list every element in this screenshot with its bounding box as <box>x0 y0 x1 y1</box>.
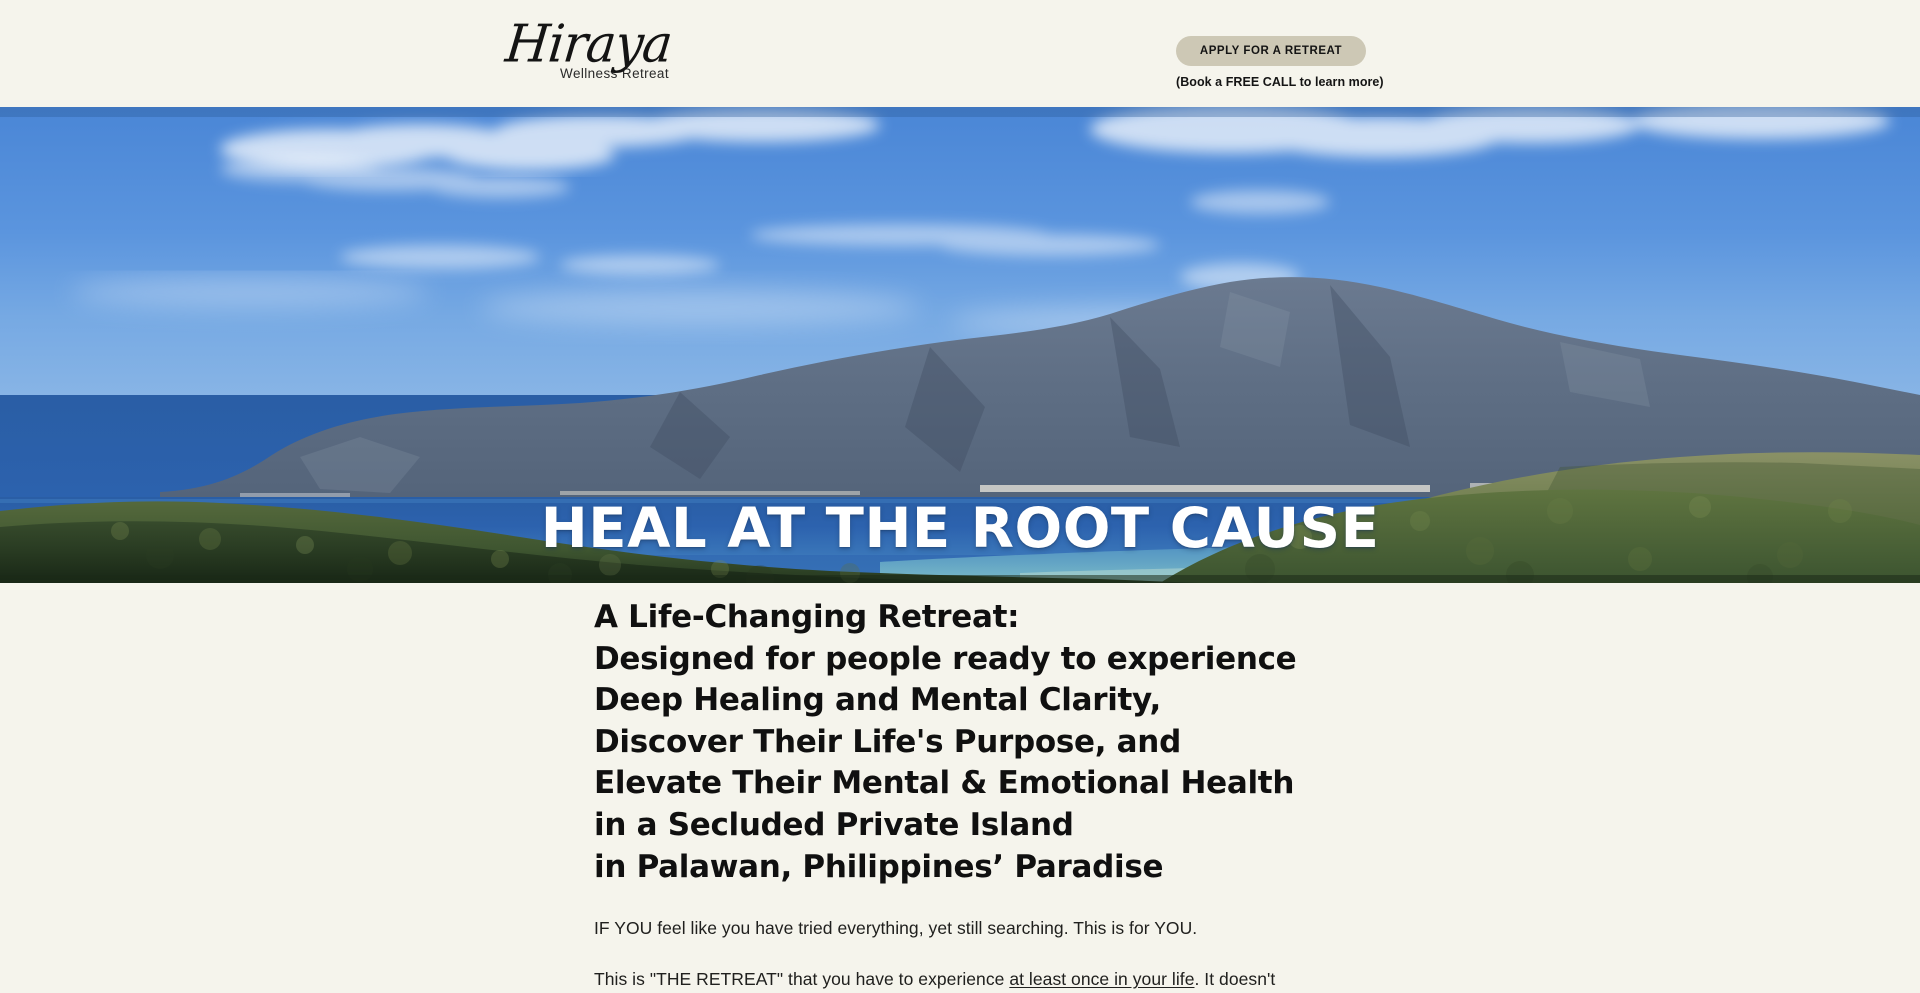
content-column: A Life-Changing Retreat: Designed for pe… <box>594 583 1354 993</box>
logo-wordmark-icon: Hiraya <box>495 15 676 73</box>
hero-section: HEAL AT THE ROOT CAUSE <box>0 107 1920 583</box>
cta-subtext: (Book a FREE CALL to learn more) <box>1176 75 1366 89</box>
retreat-paragraph-lead: This is "THE RETREAT" that you have to e… <box>594 969 1009 989</box>
retreat-paragraph: This is "THE RETREAT" that you have to e… <box>594 966 1294 993</box>
intro-paragraph: IF YOU feel like you have tried everythi… <box>594 915 1294 941</box>
heading-line-3: Deep Healing and Mental Clarity, <box>594 680 1354 722</box>
heading-line-1: A Life-Changing Retreat: <box>594 597 1354 639</box>
site-header: Hiraya Wellness Retreat APPLY FOR A RETR… <box>0 0 1920 107</box>
heading-line-4: Discover Their Life's Purpose, and <box>594 722 1354 764</box>
hero-landscape-image <box>0 107 1920 583</box>
heading-line-6: in a Secluded Private Island <box>594 805 1354 847</box>
at-least-once-link[interactable]: at least once in your life <box>1009 969 1194 989</box>
heading-line-2: Designed for people ready to experience <box>594 639 1354 681</box>
retreat-paragraph-tail: . It doesn't <box>1194 969 1275 989</box>
heading-line-7: in Palawan, Philippines’ Paradise <box>594 847 1354 889</box>
apply-for-retreat-button[interactable]: APPLY FOR A RETREAT <box>1176 36 1366 66</box>
header-cta-group: APPLY FOR A RETREAT (Book a FREE CALL to… <box>1176 36 1366 89</box>
page-title: A Life-Changing Retreat: Designed for pe… <box>594 583 1354 888</box>
heading-line-5: Elevate Their Mental & Emotional Health <box>594 763 1354 805</box>
main-content: A Life-Changing Retreat: Designed for pe… <box>0 583 1920 993</box>
site-logo[interactable]: Hiraya Wellness Retreat <box>498 16 673 94</box>
intro-paragraph-text: IF YOU feel like you have tried everythi… <box>594 918 1197 938</box>
